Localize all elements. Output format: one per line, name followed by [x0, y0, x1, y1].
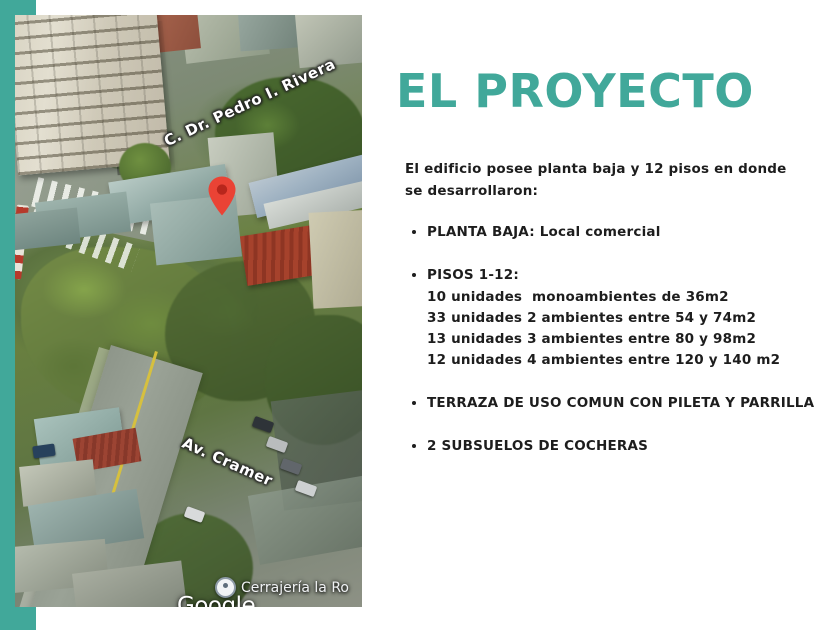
feature-bullet-list: PLANTA BAJA: Local comercial PISOS 1-12:… [405, 222, 815, 480]
intro-paragraph: El edificio posee planta baja y 12 pisos… [405, 158, 805, 203]
list-item: 2 SUBSUELOS DE COCHERAS [405, 436, 815, 457]
content-column: EL PROYECTO El edificio posee planta baj… [396, 0, 820, 630]
bullet-label: PISOS 1-12: [427, 267, 519, 283]
unit-line: 10 unidades monoambientes de 36m2 [427, 287, 815, 308]
unit-breakdown-list: 10 unidades monoambientes de 36m2 33 uni… [427, 287, 815, 371]
unit-line: 33 unidades 2 ambientes entre 54 y 74m2 [427, 308, 815, 329]
bullet-label: TERRAZA DE USO COMUN CON PILETA Y PARRIL… [427, 395, 814, 411]
bullet-label: 2 SUBSUELOS DE COCHERAS [427, 438, 648, 454]
page-title: EL PROYECTO [396, 68, 754, 114]
google-watermark: Google [177, 593, 255, 607]
map-canvas[interactable]: C. Dr. Pedro I. Rivera Av. Cramer Cerraj… [15, 15, 362, 607]
list-item: PISOS 1-12: 10 unidades monoambientes de… [405, 265, 815, 371]
list-item: TERRAZA DE USO COMUN CON PILETA Y PARRIL… [405, 393, 815, 414]
poi-label: Cerrajería la Ro [241, 580, 349, 596]
satellite-map-panel[interactable]: C. Dr. Pedro I. Rivera Av. Cramer Cerraj… [15, 15, 362, 607]
project-location-marker-icon[interactable] [207, 175, 237, 217]
unit-line: 13 unidades 3 ambientes entre 80 y 98m2 [427, 329, 815, 350]
map-project-building-roof-d [15, 207, 81, 250]
bullet-label: PLANTA BAJA: Local comercial [427, 224, 661, 240]
map-building-east-beige [309, 209, 362, 309]
list-item: PLANTA BAJA: Local comercial [405, 222, 815, 243]
unit-line: 12 unidades 4 ambientes entre 120 y 140 … [427, 350, 815, 371]
